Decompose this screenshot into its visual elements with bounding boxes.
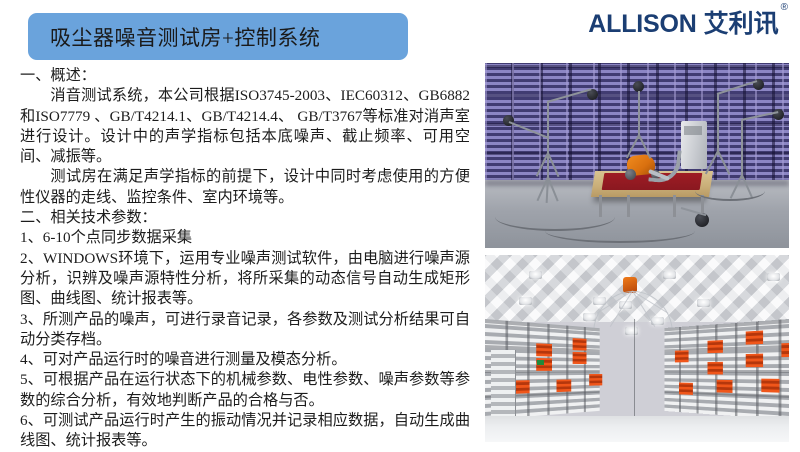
vacuum-wheel-left (625, 169, 636, 180)
wall-corner-line (634, 319, 635, 420)
orange-wedge-block (536, 343, 552, 356)
orange-wedge-block (707, 361, 722, 374)
orange-wedge-block (707, 340, 722, 353)
acoustic-wedge-wall-right (664, 319, 789, 420)
ceiling-light-icon (663, 271, 676, 279)
section-one-heading: 一、概述： (20, 66, 470, 86)
orange-wedge-block (746, 330, 763, 344)
registered-trademark-icon: ® (781, 3, 788, 13)
floor-cable (695, 181, 765, 201)
spec-item-2: 2、WINDOWS环境下，运用专业噪声测试软件，由电脑进行噪声源分析，识辨及噪声… (20, 249, 470, 310)
ceiling-light-icon (697, 299, 710, 307)
overview-paragraph-1: 消音测试系统，本公司根据ISO3745-2003、IEC60312、GB6882… (20, 86, 470, 167)
spec-item-6: 6、可测试产品运行时产生的振动情况并记录相应数据，自动生成曲线图、统计报表等。 (20, 411, 470, 452)
chamber-floor (485, 416, 789, 442)
page-title: 吸尘器噪音测试房+控制系统 (50, 22, 320, 52)
control-cabinet (681, 121, 707, 169)
floor-cable (545, 219, 695, 243)
orange-wedge-block (573, 338, 587, 351)
brand-logo-latin-text: ALLISON (588, 12, 696, 37)
photo-anechoic-chamber-vacuum-test (485, 63, 789, 248)
ceiling-light-icon (529, 271, 542, 279)
orange-wedge-block (746, 353, 763, 367)
spec-item-5: 5、可根据产品在运行状态下的机械参数、电性参数、噪声参数等参数的综合分析，有效地… (20, 370, 470, 411)
brand-logo-chinese-text: 艾利讯 (704, 12, 779, 37)
exit-sign-icon (537, 360, 544, 365)
orange-wedge-block (679, 382, 693, 394)
orange-wedge-block (557, 379, 572, 392)
spec-item-1: 1、6-10个点同步数据采集 (20, 228, 470, 248)
orange-wedge-block (675, 350, 689, 362)
photo-anechoic-chamber-room (485, 255, 789, 442)
description-text-block: 一、概述： 消音测试系统，本公司根据ISO3745-2003、IEC60312、… (20, 66, 470, 452)
page-title-banner: 吸尘器噪音测试房+控制系统 (28, 13, 408, 60)
orange-wedge-block (717, 379, 733, 392)
orange-wedge-block (761, 378, 779, 392)
section-two-heading: 二、相关技术参数： (20, 208, 470, 228)
overview-paragraph-2: 测试房在满足声学指标的前提下，设计中同时考虑使用的方便性仪器的走线、监控条件、室… (20, 167, 470, 208)
brand-logo: ALLISON 艾利讯 ® (588, 12, 788, 37)
chamber-door (491, 350, 516, 417)
spec-item-4: 4、可对产品运行时的噪音进行测量及模态分析。 (20, 350, 470, 370)
orange-wedge-block (589, 374, 602, 386)
orange-wedge-block (573, 351, 587, 363)
orange-wedge-block (781, 342, 789, 357)
ceiling-light-icon (519, 297, 532, 305)
wedge-grid-overlay (664, 319, 789, 420)
ceiling-light-icon (767, 273, 780, 281)
spec-item-3: 3、所测产品的噪声，可进行录音记录，各参数及测试分析结果可自动分类存档。 (20, 310, 470, 351)
